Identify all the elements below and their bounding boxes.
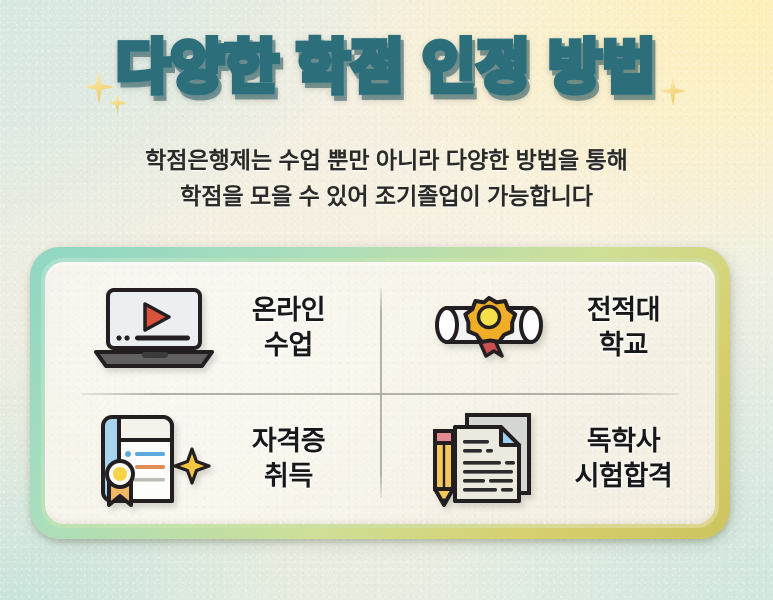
sparkle-icon-left-small [108,92,127,114]
page-subtitle: 학점은행제는 수업 뿐만 아니라 다양한 방법을 통해 학점을 모을 수 있어 … [0,142,773,215]
diploma-medal-icon [418,276,560,380]
methods-panel: 온라인 수업 전적대 학교 [45,262,715,524]
methods-grid: 온라인 수업 전적대 학교 [45,262,715,524]
method-label-prior-college: 전적대 학교 [570,293,678,362]
sparkle-icon-right [660,76,686,106]
method-label-online-class: 온라인 수업 [235,293,343,362]
page-title: 다양한 학점 인정 방법 [116,38,657,99]
certificate-icon [83,407,225,511]
method-item-online-class[interactable]: 온라인 수업 [45,262,380,393]
subtitle-line-1: 학점은행제는 수업 뿐만 아니라 다양한 방법을 통해 [0,142,773,178]
laptop-play-icon [83,276,225,380]
method-item-prior-college[interactable]: 전적대 학교 [380,262,715,393]
method-label-certificate: 자격증 취득 [235,424,343,493]
methods-panel-inner-frame: 온라인 수업 전적대 학교 [41,258,719,528]
method-item-certificate[interactable]: 자격증 취득 [45,393,380,524]
exam-papers-icon [418,407,560,511]
method-label-self-study-exam: 독학사 시험합격 [570,424,678,493]
subtitle-line-2: 학점을 모을 수 있어 조기졸업이 가능합니다 [0,178,773,214]
methods-panel-frame: 온라인 수업 전적대 학교 [30,247,730,539]
method-item-self-study-exam[interactable]: 독학사 시험합격 [380,393,715,524]
